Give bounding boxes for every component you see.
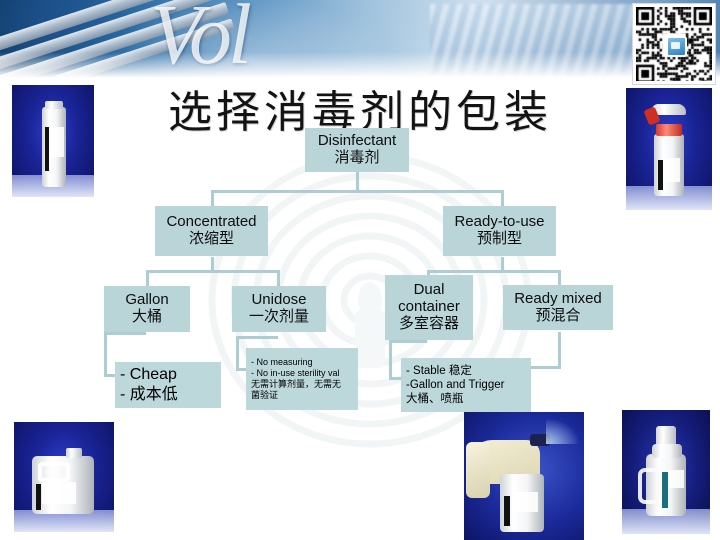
note-gallon-benefits[interactable]: - Cheap - 成本低 [115,362,221,408]
node-label-en: Disinfectant [318,133,396,150]
connector-level3-bus-left [146,270,280,273]
connector-unidose-elbow-top [236,336,278,339]
note-line: - Stable 稳定 [406,364,526,378]
node-label-zh: 多室容器 [399,316,459,333]
note-line: - 成本低 [120,385,216,405]
node-unidose[interactable]: Unidose 一次剂量 [232,286,326,332]
connector-readymixed-elbow-h [528,366,561,369]
node-label-en: Unidose [251,292,306,309]
photo-concentrate-bottle [12,85,94,197]
note-line: -Gallon and Trigger [406,378,526,392]
connector-to-readymixed [558,270,561,286]
qr-code[interactable] [632,3,716,85]
note-line: - No in-use sterility val [251,368,353,379]
connector-gallon-elbow-top [104,332,146,335]
connector-level2-bus [211,190,504,193]
node-gallon[interactable]: Gallon 大桶 [104,286,190,332]
node-label-en: Concentrated [166,214,256,231]
node-ready-to-use[interactable]: Ready-to-use 预制型 [443,206,556,256]
banner-fade [0,52,720,78]
node-label-zh: 浓缩型 [189,231,234,248]
connector-to-unidose [277,270,280,286]
node-concentrated[interactable]: Concentrated 浓缩型 [155,206,268,256]
connector-to-gallon [146,270,149,286]
connector-to-concentrated [211,190,214,207]
node-label-en: Ready mixed [514,291,602,308]
note-line: - No measuring [251,357,353,368]
note-line: 菌验证 [251,390,353,401]
node-label-en: Ready-to-use [454,214,544,231]
photo-gloved-hand-spraying [464,412,584,540]
photo-gallon-jug [14,422,114,532]
node-label-zh: 大桶 [132,309,162,326]
slide-canvas: Vol 选择消毒剂的包装 [0,0,720,540]
connector-dual-elbow-v [389,340,392,380]
node-label-en-line2: container [398,299,460,316]
connector-root-down [356,172,359,192]
node-disinfectant[interactable]: Disinfectant 消毒剂 [305,128,409,172]
note-readytouse-benefits[interactable]: - Stable 稳定 -Gallon and Trigger 大桶、喷瓶 [401,358,531,412]
node-label-zh: 预制型 [477,231,522,248]
note-unidose-benefits[interactable]: - No measuring - No in-use sterility val… [246,348,358,410]
node-dual-container[interactable]: Dual container 多室容器 [385,275,473,340]
node-ready-mixed[interactable]: Ready mixed 预混合 [503,285,613,330]
node-label-zh: 预混合 [535,308,580,325]
app-logo-icon [666,36,687,57]
connector-readymixed-elbow-v [558,332,561,368]
connector-level3-bus-right [427,270,561,273]
header-banner-image: Vol [0,0,720,78]
photo-trigger-spray-bottle [626,88,712,210]
note-line: 大桶、喷瓶 [406,392,526,406]
node-label-en: Gallon [125,292,168,309]
note-line: - Cheap [120,365,216,385]
photo-jug-with-handle [622,410,710,534]
connector-to-readytouse [501,190,504,207]
node-label-zh: 消毒剂 [334,150,379,167]
node-label-zh: 一次剂量 [249,309,309,326]
node-label-en-line1: Dual [414,282,445,299]
connector-gallon-elbow-v [104,332,107,374]
note-line: 无需计算剂量，无需无 [251,379,353,390]
connector-unidose-elbow-v [236,336,239,370]
connector-dual-elbow-top [389,340,427,343]
